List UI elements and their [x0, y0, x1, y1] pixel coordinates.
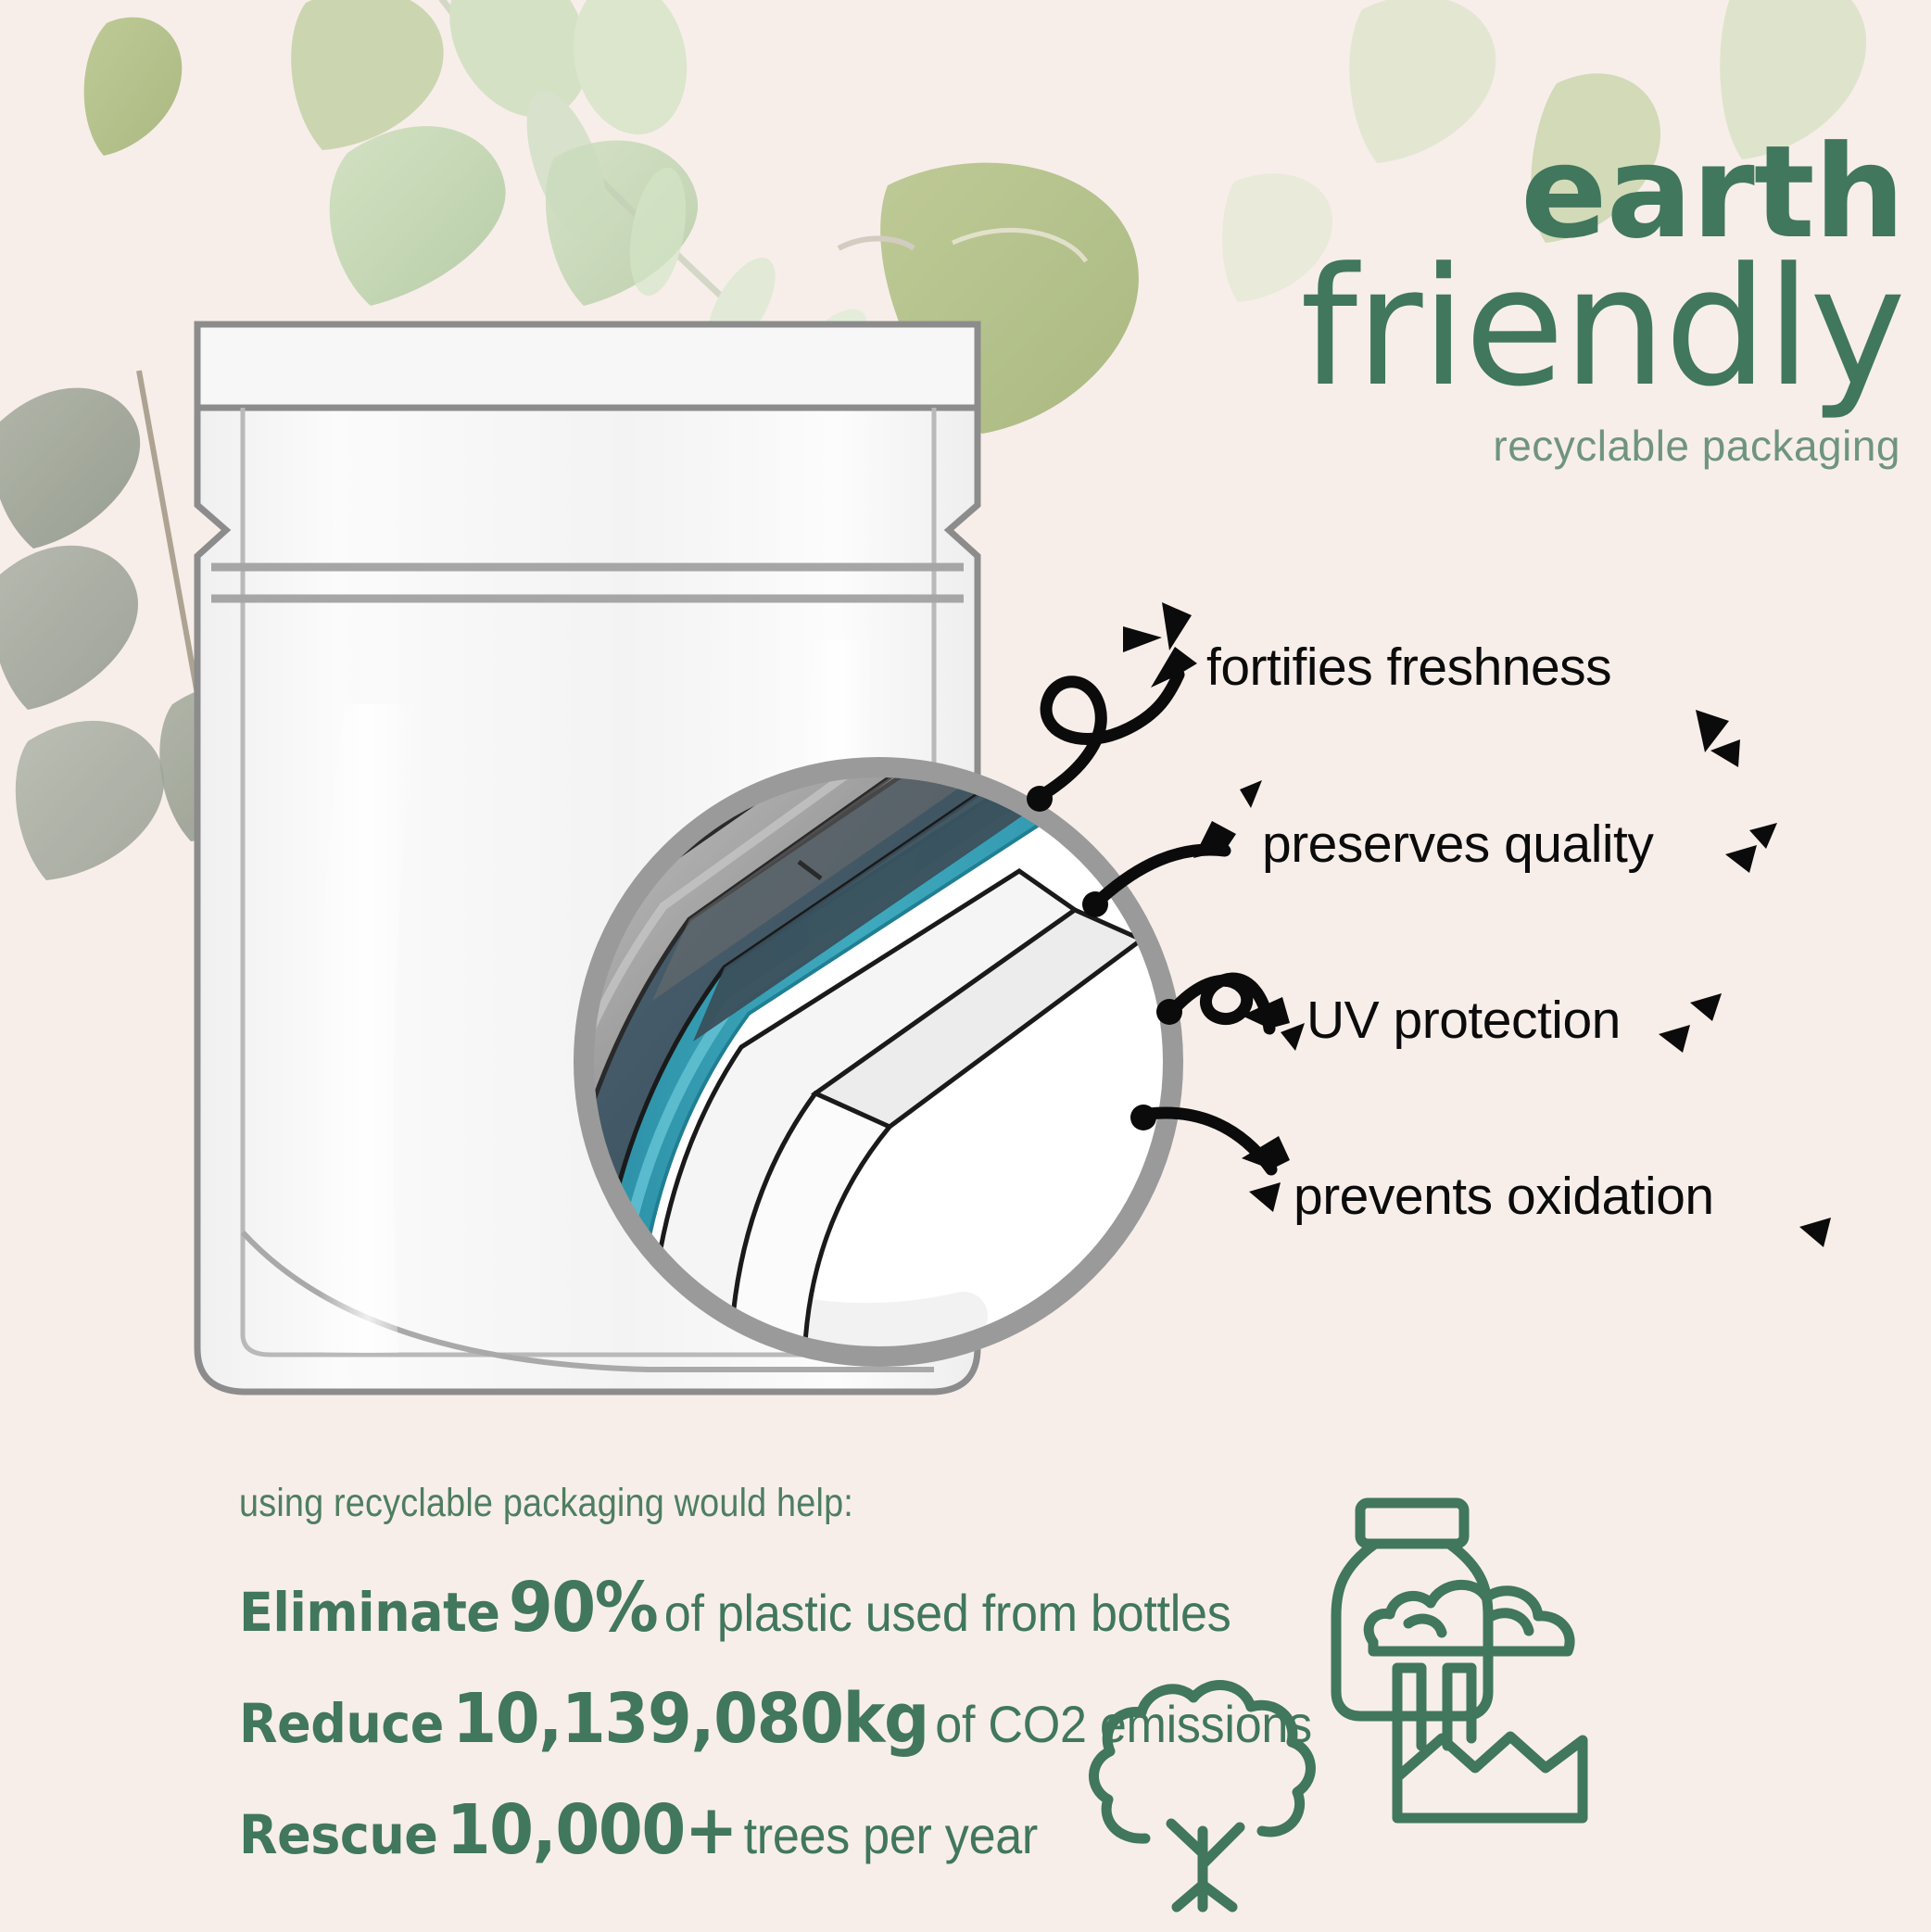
tree-icon	[1093, 1686, 1310, 1907]
bottle-icon	[1336, 1503, 1488, 1716]
infographic-canvas: earth friendly recyclable packaging	[0, 0, 1931, 1932]
stat-icon-group	[0, 0, 1931, 1932]
factory-icon	[1369, 1585, 1583, 1818]
